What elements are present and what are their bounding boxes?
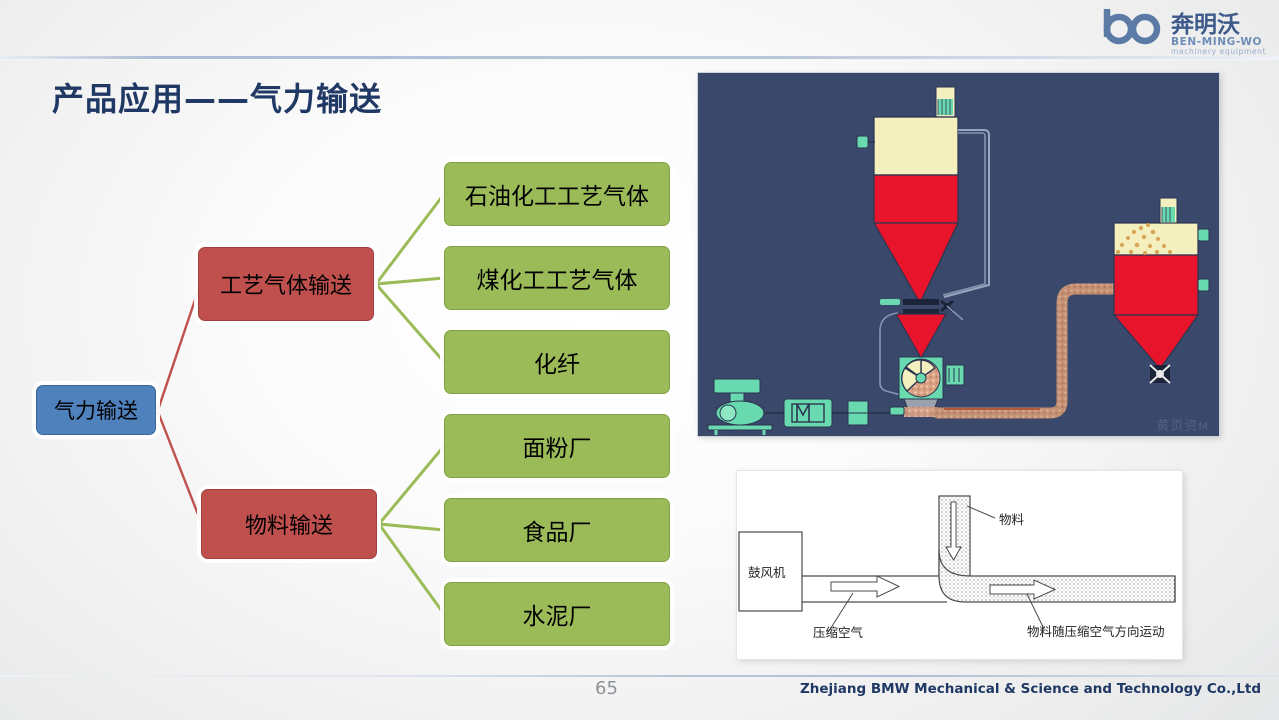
footer-divider <box>0 675 1279 677</box>
mindmap-leaf-coal-chemical-gas[interactable]: 煤化工工艺气体 <box>444 246 670 310</box>
inlet-valve <box>890 407 904 415</box>
company-logo: 奔明沃 BEN-MING-WO machinery equipment <box>1099 4 1267 56</box>
logo-tagline: machinery equipment <box>1171 47 1266 56</box>
logo-name-cn: 奔明沃 <box>1171 12 1240 38</box>
mindmap-node-root[interactable]: 气力输送 <box>36 385 156 435</box>
illustration-svg <box>698 73 1219 436</box>
mindmap-leaf-petrochemical-gas[interactable]: 石油化工工艺气体 <box>444 162 670 226</box>
page-number: 65 <box>595 678 618 699</box>
mindmap-leaf-cement-plant[interactable]: 水泥厂 <box>444 582 670 646</box>
label-material: 物料 <box>999 512 1025 527</box>
mindmap-node-branch-process-gas[interactable]: 工艺气体输送 <box>198 247 374 321</box>
label-compressed-air: 压缩空气 <box>813 625 864 640</box>
connector-group-green <box>376 194 444 614</box>
silo-port-upper <box>1198 229 1209 241</box>
label-blower: 鼓风机 <box>748 565 786 580</box>
company-name: Zhejiang BMW Mechanical & Science and Te… <box>800 681 1261 697</box>
schematic-svg: 鼓风机 物 <box>737 471 1182 659</box>
logo-bo-mark <box>1107 9 1157 41</box>
pneumatic-conveying-illustration: 黄页资м <box>698 73 1219 436</box>
conveying-principle-schematic: 鼓风机 物 <box>737 471 1182 659</box>
connector-group-red <box>158 291 201 522</box>
logo-svg: 奔明沃 BEN-MING-WO machinery equipment <box>1099 4 1267 56</box>
silo-port-lower <box>1198 279 1209 291</box>
mindmap: 气力输送 工艺气体输送 物料输送 石油化工工艺气体 煤化工工艺气体 化纤 面粉厂… <box>0 0 700 700</box>
label-material-flow: 物料随压缩空气方向运动 <box>1027 624 1165 639</box>
mindmap-leaf-food-factory[interactable]: 食品厂 <box>444 498 670 562</box>
mindmap-leaf-flour-mill[interactable]: 面粉厂 <box>444 414 670 478</box>
bottom-discharge <box>1150 365 1170 383</box>
mindmap-node-branch-material[interactable]: 物料输送 <box>201 489 377 559</box>
slide: 奔明沃 BEN-MING-WO machinery equipment 产品应用… <box>0 0 1279 720</box>
illustration-watermark: 黄页资м <box>1156 415 1209 434</box>
mindmap-leaf-chemical-fiber[interactable]: 化纤 <box>444 330 670 394</box>
